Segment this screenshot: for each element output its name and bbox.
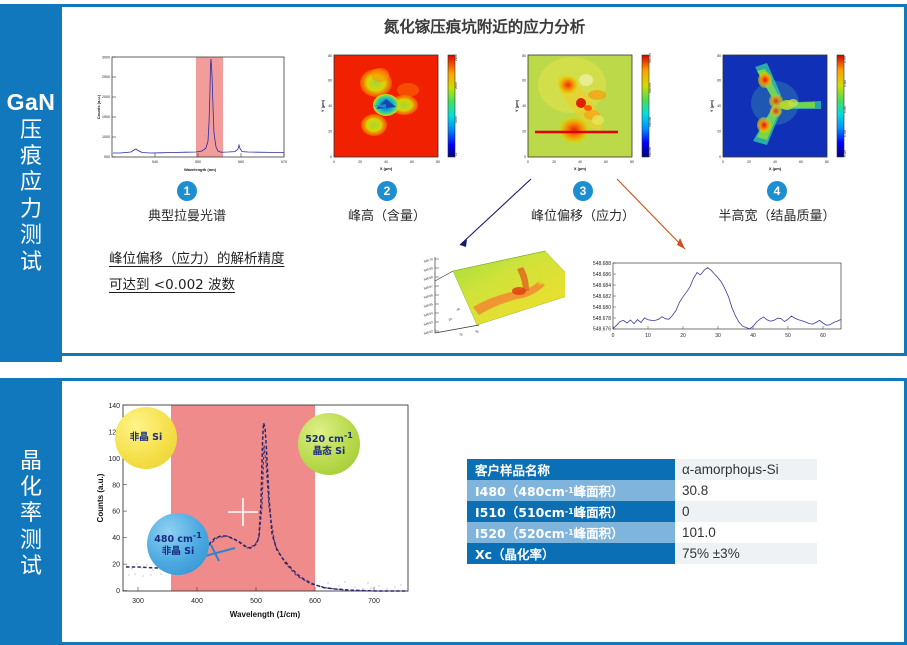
bubble-crystalline-green: 520 cm-1 晶态 Si [298,413,360,475]
table-row: Xc（晶化率） 75% ±3% [467,543,817,564]
results-table: 客户样品名称 α-amorphoμs-Si I480（480cm-1 峰面积） … [467,459,817,564]
slide-page: GaN 压 痕 应 力 测 试 氮化镓压痕坑附近的应力分析 [0,0,907,645]
svg-text:548.688: 548.688 [593,261,611,267]
table-value-3: 101.0 [675,522,817,543]
sidebar2-char-4: 试 [20,554,42,580]
svg-text:400: 400 [191,598,203,605]
table-value-1: 30.8 [675,480,817,501]
svg-text:20: 20 [680,333,686,339]
svg-text:40: 40 [456,307,461,312]
sidebar-char-4: 测 [20,223,42,249]
svg-text:20: 20 [459,332,464,337]
svg-text:548.69: 548.69 [423,266,433,272]
panel-top-body: 氮化镓压痕坑附近的应力分析 5001000 [65,7,904,353]
svg-text:20: 20 [112,562,120,569]
svg-text:548.62: 548.62 [423,329,433,335]
svg-text:10: 10 [645,333,651,339]
bubble-blue-label-1: 480 cm-1 [154,531,202,546]
sidebar-latin-label: GaN [7,90,56,116]
svg-text:0: 0 [116,588,120,595]
table-row: 客户样品名称 α-amorphoμs-Si [467,459,817,480]
sidebar-char-1: 痕 [20,144,42,170]
bubble-blue-label-2: 非晶 Si [162,546,194,558]
svg-text:Wavelength (1/cm): Wavelength (1/cm) [230,610,301,619]
svg-text:548.684: 548.684 [593,283,611,289]
svg-text:700: 700 [368,598,380,605]
svg-text:548.64: 548.64 [423,311,433,317]
svg-text:548.682: 548.682 [593,294,611,300]
svg-text:548.67: 548.67 [423,284,433,290]
table-key-2: I510（510cm-1 峰面积） [467,501,675,522]
panel-bottom-body: 140120 10080 6040 200 300400 5006 [65,381,904,642]
svg-text:500: 500 [250,598,262,605]
svg-text:Counts (a.u.): Counts (a.u.) [96,473,105,522]
bubble-amorphous-yellow: 非晶 Si [115,407,177,469]
chart-crystallinity-spectrum: 140120 10080 6040 200 300400 5006 [83,395,423,635]
svg-text:60: 60 [112,509,120,516]
svg-text:548.676: 548.676 [593,327,611,333]
sidebar2-char-0: 晶 [20,449,42,475]
chart-line-profile: 548.688548.686 548.684548.682 548.680548… [565,257,847,349]
sidebar2-char-2: 率 [20,501,42,527]
svg-text:60: 60 [820,333,826,339]
svg-text:548.678: 548.678 [593,316,611,322]
sidebar2-char-3: 测 [20,528,42,554]
bubble-yellow-label: 非晶 Si [130,432,162,444]
svg-text:548.63: 548.63 [423,320,433,326]
table-value-2: 0 [675,501,817,522]
svg-text:548.68: 548.68 [423,275,433,281]
table-key-0: 客户样品名称 [467,459,675,480]
panel-crystallinity: 晶 化 率 测 试 140120 10080 6040 [0,378,907,645]
svg-text:40: 40 [112,535,120,542]
table-row: I510（510cm-1 峰面积） 0 [467,501,817,522]
sidebar-crystallinity: 晶 化 率 测 试 [0,378,62,645]
bubble-green-label-2: 晶态 Si [313,446,345,458]
table-value-0: α-amorphoμs-Si [675,459,817,480]
svg-text:548.680: 548.680 [593,305,611,311]
svg-text:20: 20 [448,317,453,322]
sidebar-gan-stress: GaN 压 痕 应 力 测 试 [0,4,62,362]
svg-text:600: 600 [309,598,321,605]
svg-text:0: 0 [612,333,615,339]
bubble-amorphous-blue: 480 cm-1 非晶 Si [147,513,209,575]
bubble-green-label-1: 520 cm-1 [305,431,353,446]
sidebar-char-5: 试 [20,250,42,276]
svg-text:548.66: 548.66 [423,293,433,299]
table-key-1: I480（480cm-1 峰面积） [467,480,675,501]
svg-text:40: 40 [475,329,480,334]
panel-gan-stress: GaN 压 痕 应 力 测 试 氮化镓压痕坑附近的应力分析 [0,4,907,356]
sidebar-char-3: 力 [20,197,42,223]
svg-text:300: 300 [132,598,144,605]
svg-text:40: 40 [750,333,756,339]
svg-text:140: 140 [108,403,120,410]
table-key-4: Xc（晶化率） [467,543,675,564]
table-key-3: I520（520cm-1 峰面积） [467,522,675,543]
svg-text:30: 30 [715,333,721,339]
sidebar-char-2: 应 [20,170,42,196]
table-row: I480（480cm-1 峰面积） 30.8 [467,480,817,501]
svg-text:548.686: 548.686 [593,272,611,278]
sidebar2-char-1: 化 [20,475,42,501]
svg-text:80: 80 [112,482,120,489]
svg-text:548.65: 548.65 [423,302,433,308]
table-value-4: 75% ±3% [675,543,817,564]
svg-text:548.70: 548.70 [423,257,433,263]
svg-text:100: 100 [108,456,120,463]
sidebar-char-0: 压 [20,118,42,144]
svg-text:50: 50 [785,333,791,339]
table-row: I520（520cm-1 峰面积） 101.0 [467,522,817,543]
